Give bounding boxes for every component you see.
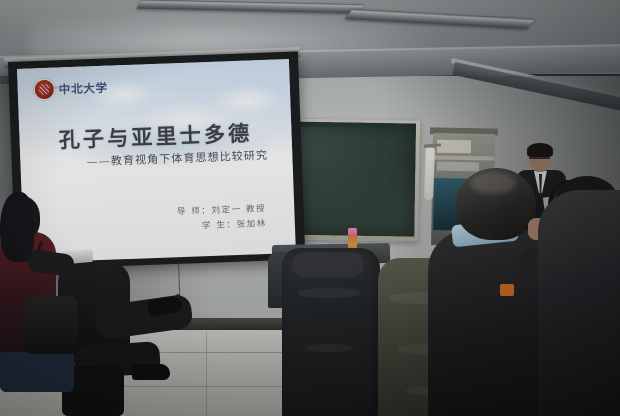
cabinet-paper [437,162,479,172]
hair-highlight [470,172,516,194]
coat-highlight [292,252,364,278]
handbag [24,296,78,354]
floor-tile-line [206,332,207,416]
classroom-presentation-photo: 中北大学 NORTH UNIVERSITY OF CHINA 孔子与亚里士多德 … [0,0,620,416]
bottle-cap-icon [348,228,357,236]
coat-fold [306,344,352,352]
hanging-cloth [424,148,435,200]
coat-fold [298,288,360,298]
orange-badge [500,284,514,296]
slide-credits: 导 师：刘定一 教授 学 生：张加林 [22,201,295,241]
shoe [132,364,170,380]
cabinet-paper [437,140,471,154]
projection-screen[interactable]: 中北大学 NORTH UNIVERSITY OF CHINA 孔子与亚里士多德 … [17,59,296,263]
note-taker-hair [0,192,34,262]
presenter-glasses-icon [529,155,550,159]
foreground-attendee-body [538,190,620,416]
